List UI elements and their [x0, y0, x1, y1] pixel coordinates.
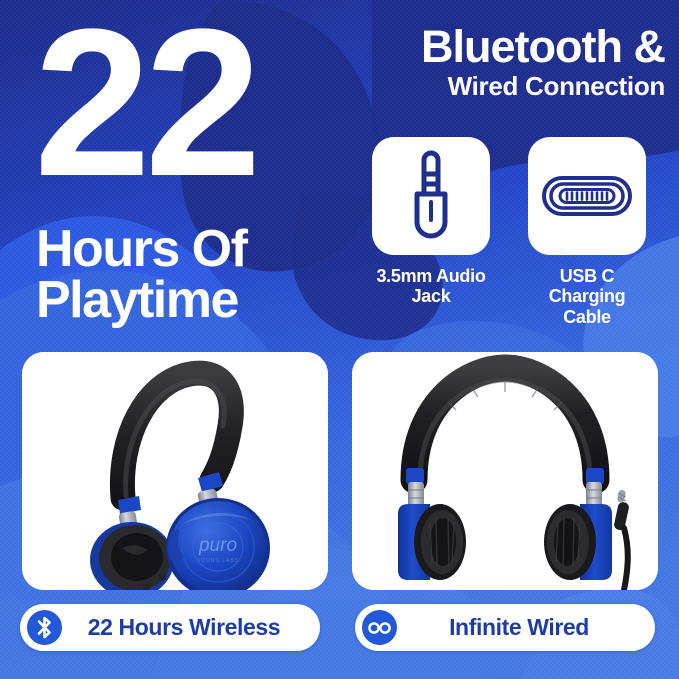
product-photo-front — [352, 352, 658, 590]
accessory-card-audio-jack — [372, 137, 490, 255]
product-feature-poster: 22 Hours Of Playtime Bluetooth & Wired C… — [0, 0, 679, 679]
audio-jack-icon — [402, 150, 460, 242]
accessory-label-audio-jack: 3.5mm Audio Jack — [372, 266, 490, 307]
accessory-label-usb-c: USB C Charging Cable — [528, 266, 646, 327]
feature-pill-wired-label: Infinite Wired — [397, 614, 655, 641]
accessory-usb-c: USB C Charging Cable — [528, 137, 646, 327]
headphones-front-image — [352, 352, 658, 590]
product-photo-angled: puro SOUND LABS — [22, 352, 328, 590]
hero-number: 22 — [34, 6, 256, 199]
accessory-card-usb-c — [528, 137, 646, 255]
feature-pill-wireless[interactable]: 22 Hours Wireless — [20, 604, 320, 651]
bluetooth-icon — [27, 610, 62, 645]
svg-text:SOUND LABS: SOUND LABS — [197, 558, 239, 564]
headphones-angled-image: puro SOUND LABS — [22, 352, 328, 590]
product-brand-mark: puro — [198, 535, 237, 556]
infinity-icon — [362, 610, 397, 645]
usb-c-icon — [541, 170, 633, 222]
header-line-2: Wired Connection — [421, 72, 665, 102]
header-headline: Bluetooth & Wired Connection — [421, 24, 665, 102]
hero-subtitle: Hours Of Playtime — [36, 224, 246, 327]
accessory-audio-jack: 3.5mm Audio Jack — [372, 137, 490, 307]
feature-pill-wireless-label: 22 Hours Wireless — [62, 614, 320, 641]
feature-pill-wired[interactable]: Infinite Wired — [355, 604, 655, 651]
header-line-1: Bluetooth & — [421, 24, 665, 70]
